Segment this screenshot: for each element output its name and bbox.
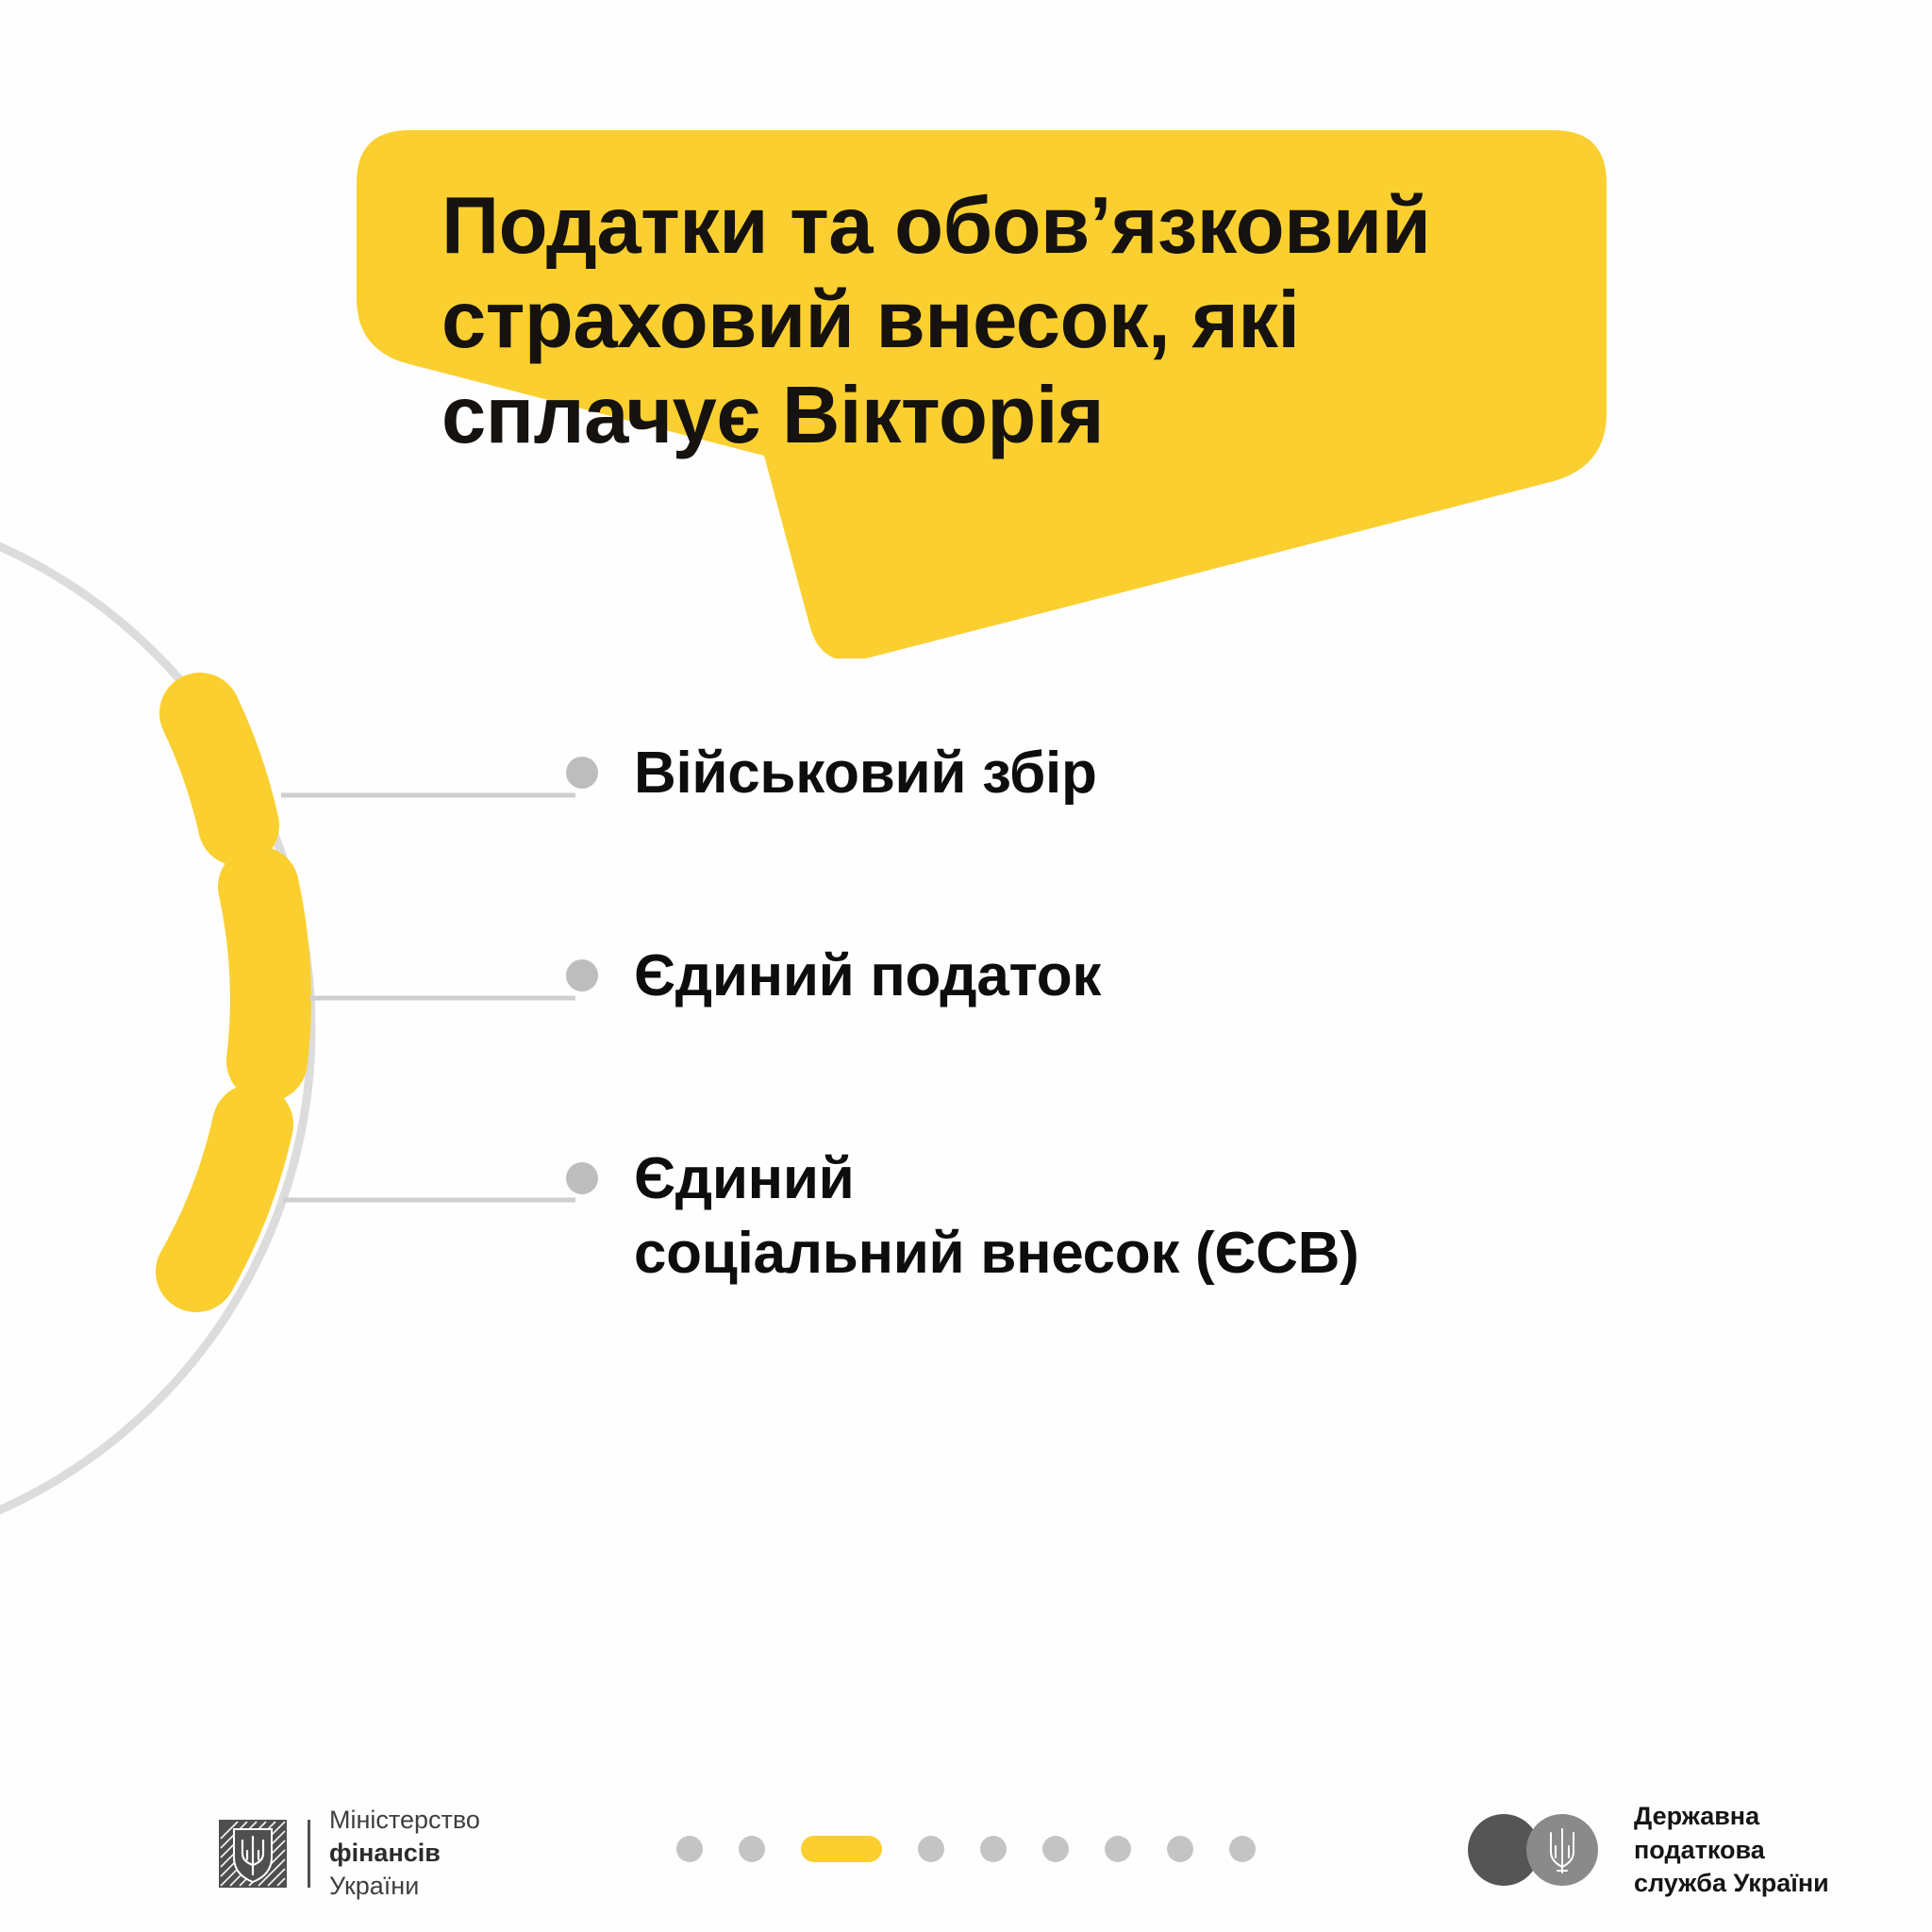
page-dot-9[interactable] xyxy=(1229,1836,1256,1862)
page-dot-1[interactable] xyxy=(676,1836,703,1862)
chart-segment-social-contribution xyxy=(196,1124,253,1272)
logo-divider xyxy=(308,1820,310,1888)
tax-logo-line-3: служба України xyxy=(1634,1869,1829,1897)
tax-service-logo-text: Державнаподатковаслужба України xyxy=(1634,1800,1829,1901)
page-dot-4[interactable] xyxy=(918,1836,944,1862)
page-dot-5[interactable] xyxy=(980,1836,1007,1862)
page-title: Податки та обов’язковий страховий внесок… xyxy=(441,179,1564,463)
tax-logo-line-1: Державна xyxy=(1634,1802,1759,1830)
ministry-logo-text: МіністерствофінансівУкраїни xyxy=(329,1804,480,1903)
title-bubble: Податки та обов’язковий страховий внесок… xyxy=(357,130,1607,658)
list-item-label: Військовий збір xyxy=(634,736,1097,810)
page-dot-8[interactable] xyxy=(1167,1836,1193,1862)
chart-segment-single-tax xyxy=(258,887,271,1061)
bullet-dot-icon xyxy=(566,959,598,991)
list-item[interactable]: Єдиний податок xyxy=(566,939,1101,1013)
list-item-label: Єдиний податок xyxy=(634,939,1101,1013)
infographic-slide: Податки та обов’язковий страховий внесок… xyxy=(0,0,1932,1932)
ministry-shield-trident-icon xyxy=(219,1820,287,1888)
ministry-logo-line-1: Міністерство xyxy=(329,1806,480,1834)
tax-logo-line-2: податкова xyxy=(1634,1836,1765,1864)
page-dot-7[interactable] xyxy=(1105,1836,1131,1862)
chart-track-arc xyxy=(0,500,311,1557)
bullet-dot-icon xyxy=(566,1162,598,1194)
page-dot-3-active[interactable] xyxy=(801,1836,882,1862)
list-item-label: Єдиний соціальний внесок (ЄСВ) xyxy=(634,1141,1358,1291)
ministry-of-finance-logo: МіністерствофінансівУкраїни xyxy=(219,1804,480,1903)
trident-icon xyxy=(1545,1825,1579,1874)
state-tax-service-logo: Державнаподатковаслужба України xyxy=(1468,1800,1829,1901)
chart-segments xyxy=(196,713,271,1272)
ministry-logo-line-3: України xyxy=(329,1872,419,1900)
tax-service-mark-icon xyxy=(1468,1814,1609,1886)
page-dot-2[interactable] xyxy=(739,1836,765,1862)
page-dot-6[interactable] xyxy=(1042,1836,1069,1862)
ministry-logo-line-2: фінансів xyxy=(329,1839,441,1867)
list-item[interactable]: Військовий збір xyxy=(566,736,1097,810)
chart-segment-military-levy xyxy=(200,713,239,825)
bullet-dot-icon xyxy=(566,757,598,789)
list-item[interactable]: Єдиний соціальний внесок (ЄСВ) xyxy=(566,1141,1358,1291)
